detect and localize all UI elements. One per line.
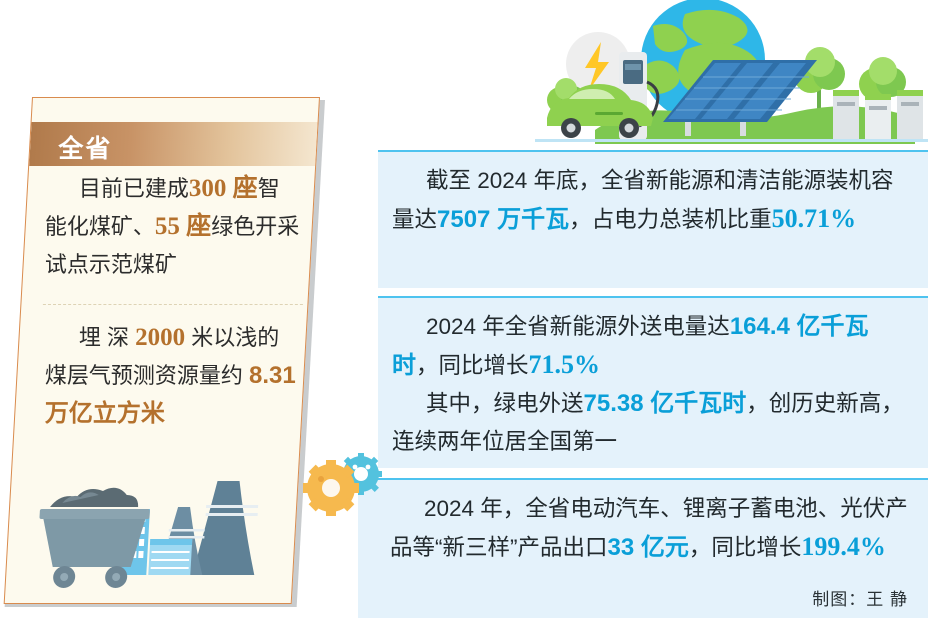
b2-l1-seg2: ，同比增长 — [416, 353, 529, 378]
c1-highlight-green-mines: 55 座 — [155, 213, 211, 240]
infographic-root: 截至 2024 年底，全省新能源和清洁能源装机容量达7507 万千瓦，占电力总装… — [0, 0, 928, 627]
c1-seg1: 目前已建成 — [79, 176, 189, 201]
b2-l2-seg1: 其中，绿电外送 — [426, 391, 584, 416]
battery-unit-icon — [833, 90, 923, 140]
right-column: 截至 2024 年底，全省新能源和清洁能源装机容量达7507 万千瓦，占电力总装… — [330, 0, 928, 627]
c2-highlight-depth: 2000 — [135, 324, 185, 351]
card-paragraph-1: 目前已建成300 座智能化煤矿、55 座绿色开采试点示范煤矿 — [29, 170, 315, 284]
b1-highlight-capacity: 7507 万千瓦 — [437, 206, 569, 233]
b3-seg2: ，同比增长 — [689, 535, 802, 560]
coal-industry-illustration — [5, 453, 303, 603]
stat-block-1-text: 截至 2024 年底，全省新能源和清洁能源装机容量达7507 万千瓦，占电力总装… — [378, 152, 928, 239]
card-body: 目前已建成300 座智能化煤矿、55 座绿色开采试点示范煤矿 埋 深 2000 … — [29, 170, 315, 433]
gears-decoration — [295, 440, 390, 520]
credit-label: 制图：王 静 — [812, 585, 908, 610]
gear-orange-icon — [303, 460, 359, 516]
stat-block-3-text: 2024 年，全省电动汽车、锂离子蓄电池、光伏产品等“新三样”产品出口33 亿元… — [358, 480, 928, 567]
b1-seg2: ，占电力总装机比重 — [569, 207, 772, 232]
b2-highlight-growth: 71.5% — [529, 350, 601, 379]
card-header-banner: 全省 — [29, 122, 317, 166]
card-paragraph-2: 埋 深 2000 米以浅的煤层气预测资源量约 8.31 万亿立方米 — [29, 319, 315, 433]
left-card-panel: 全省 目前已建成300 座智能化煤矿、55 座绿色开采试点示范煤矿 埋 深 20… — [0, 0, 400, 627]
stat-block-power-export: 2024 年全省新能源外送电量达164.4 亿千瓦时，同比增长71.5% 其中，… — [378, 296, 928, 468]
b1-highlight-share: 50.71% — [772, 204, 857, 233]
stat-block-new-energy-capacity: 截至 2024 年底，全省新能源和清洁能源装机容量达7507 万千瓦，占电力总装… — [378, 150, 928, 288]
c1-highlight-mines: 300 座 — [189, 175, 258, 202]
province-summary-card: 全省 目前已建成300 座智能化煤矿、55 座绿色开采试点示范煤矿 埋 深 20… — [4, 97, 320, 604]
card-header-label: 全省 — [30, 122, 316, 165]
b3-highlight-export-value: 33 亿元 — [608, 534, 689, 561]
c2-seg1: 埋 深 — [79, 325, 135, 350]
b3-highlight-growth: 199.4% — [801, 532, 886, 561]
stat-block-2-text: 2024 年全省新能源外送电量达164.4 亿千瓦时，同比增长71.5% 其中，… — [378, 298, 928, 461]
b2-highlight-green-export: 75.38 亿千瓦时 — [584, 390, 747, 417]
b2-l1-seg1: 2024 年全省新能源外送电量达 — [426, 314, 730, 339]
stat-block-new-three-exports: 2024 年，全省电动汽车、锂离子蓄电池、光伏产品等“新三样”产品出口33 亿元… — [358, 478, 928, 618]
card-divider — [43, 304, 303, 305]
green-energy-illustration — [535, 0, 928, 150]
